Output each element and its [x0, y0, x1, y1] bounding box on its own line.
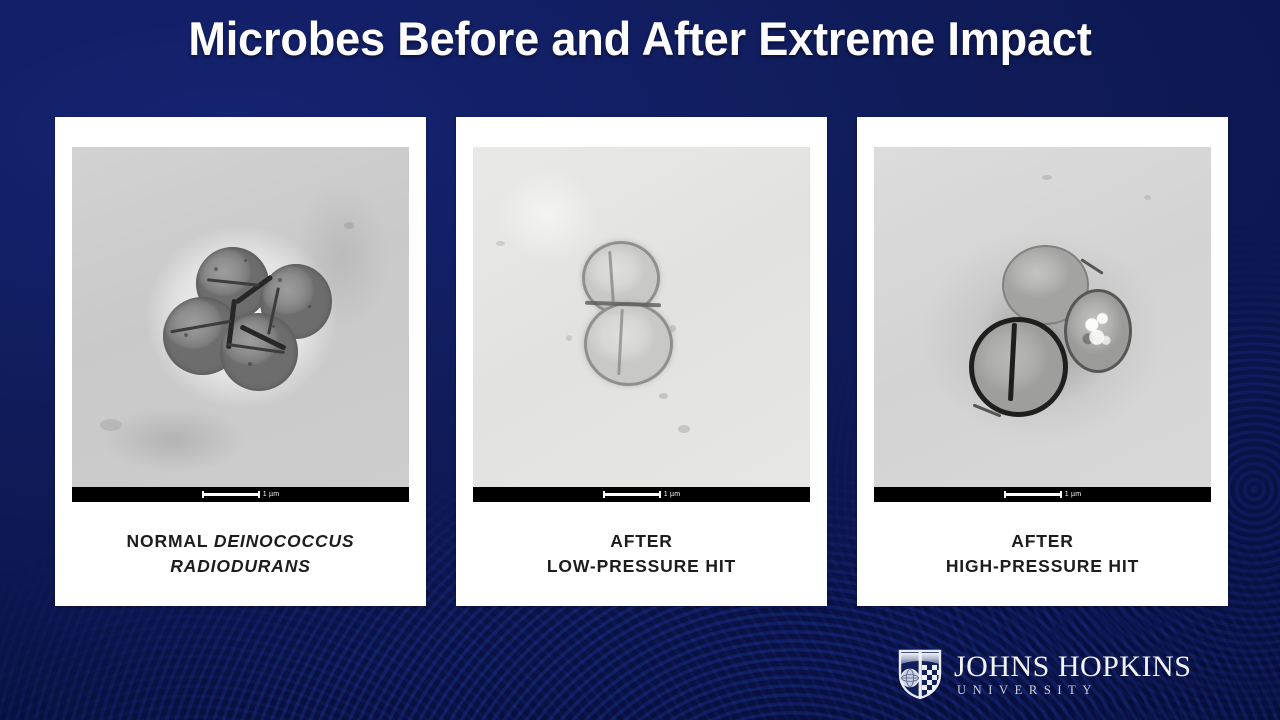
micrograph-image-high-pressure — [874, 147, 1211, 487]
scale-bar-low-pressure: 1 µm — [473, 487, 810, 502]
slide-root: Microbes Before and After Extreme Impact — [0, 0, 1280, 720]
cell-speck — [248, 362, 252, 366]
caption-line-1: AFTER — [610, 531, 673, 551]
logo-university-subtitle: UNIVERSITY — [954, 684, 1191, 697]
scale-bar-normal: 1 µm — [72, 487, 409, 502]
panel-normal: 1 µm NORMAL DEINOCOCCUS RADIODURANS — [55, 117, 426, 606]
scale-bar-line — [202, 493, 260, 496]
cell-speck — [214, 267, 218, 271]
surface-debris — [669, 325, 676, 332]
johns-hopkins-logo: JOHNS HOPKINS UNIVERSITY — [898, 648, 1191, 700]
cell-lower — [584, 302, 673, 386]
surface-debris — [496, 241, 505, 246]
panel-low-pressure: 1 µm AFTER LOW-PRESSURE HIT — [456, 117, 827, 606]
micrograph-image-low-pressure — [473, 147, 810, 487]
cell-speck — [278, 278, 282, 282]
panel-caption-low-pressure: AFTER LOW-PRESSURE HIT — [547, 529, 736, 580]
caption-line-2: HIGH-PRESSURE HIT — [946, 556, 1139, 576]
background-debris — [1144, 195, 1151, 200]
panel-caption-normal: NORMAL DEINOCOCCUS RADIODURANS — [127, 529, 355, 580]
background-debris — [1042, 175, 1052, 180]
scale-bar-label: 1 µm — [1065, 491, 1082, 498]
micrograph-high-pressure: 1 µm — [874, 147, 1211, 502]
cell-speck — [308, 305, 311, 308]
slide-title: Microbes Before and After Extreme Impact — [26, 14, 1255, 63]
shield-icon — [898, 648, 942, 700]
background-debris — [100, 419, 122, 431]
scale-bar-label: 1 µm — [664, 491, 681, 498]
panel-row: 1 µm NORMAL DEINOCOCCUS RADIODURANS — [55, 117, 1228, 606]
scale-bar-label: 1 µm — [263, 491, 280, 498]
panel-caption-high-pressure: AFTER HIGH-PRESSURE HIT — [946, 529, 1139, 580]
background-debris — [344, 222, 354, 229]
caption-line-2: LOW-PRESSURE HIT — [547, 556, 736, 576]
logo-university-name: JOHNS HOPKINS — [954, 652, 1191, 682]
surface-debris — [566, 335, 572, 341]
cell-lower-left — [969, 317, 1068, 417]
cell-speck — [184, 333, 188, 337]
scale-bar-line — [1004, 493, 1062, 496]
micrograph-image-normal — [72, 147, 409, 487]
micrograph-normal: 1 µm — [72, 147, 409, 502]
caption-line-1: AFTER — [1011, 531, 1074, 551]
cell-speck — [272, 325, 275, 328]
surface-debris — [678, 425, 690, 433]
logo-wordmark: JOHNS HOPKINS UNIVERSITY — [954, 652, 1191, 697]
surface-debris — [659, 393, 668, 399]
cell-ruptured-right — [1064, 289, 1132, 373]
panel-high-pressure: 1 µm AFTER HIGH-PRESSURE HIT — [857, 117, 1228, 606]
scale-bar-high-pressure: 1 µm — [874, 487, 1211, 502]
caption-species-epithet: RADIODURANS — [170, 556, 311, 576]
micrograph-low-pressure: 1 µm — [473, 147, 810, 502]
scale-bar-line — [603, 493, 661, 496]
caption-species-genus: DEINOCOCCUS — [214, 531, 355, 551]
caption-prefix: NORMAL — [127, 531, 214, 551]
cell-speck — [244, 259, 247, 262]
